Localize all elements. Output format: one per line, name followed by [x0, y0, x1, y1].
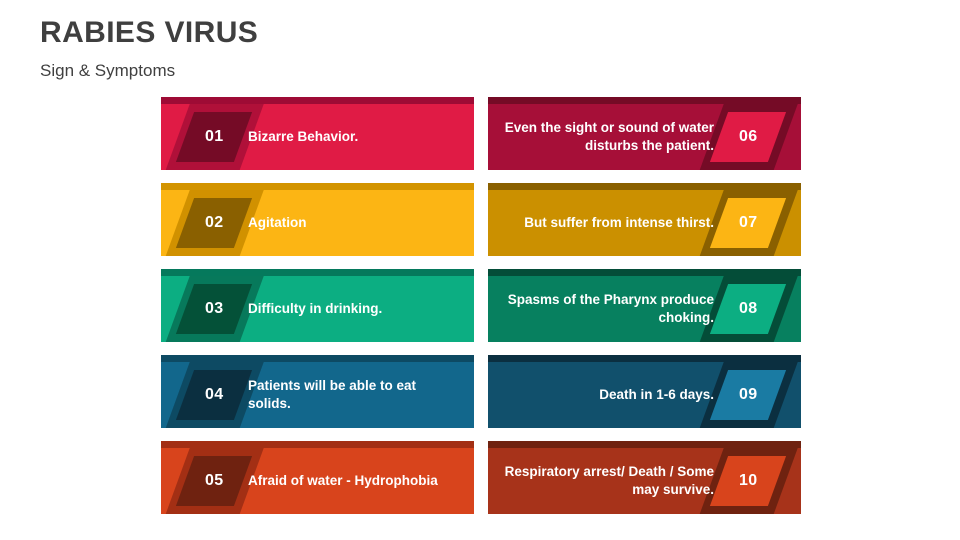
bar-top-strip — [161, 441, 474, 448]
bar-body: 05Afraid of water - Hydrophobia — [161, 448, 474, 514]
bar-body: 09Death in 1-6 days. — [488, 362, 801, 428]
bar-number: 06 — [739, 129, 757, 145]
bar-top-strip — [161, 269, 474, 276]
bar-body: 06Even the sight or sound of water distu… — [488, 104, 801, 170]
bar-number: 08 — [739, 301, 757, 317]
bar-top-strip — [488, 183, 801, 190]
symptom-bar[interactable]: 10Respiratory arrest/ Death / Some may s… — [488, 441, 801, 514]
bar-label-text: Patients will be able to eat solids. — [248, 377, 462, 413]
bar-number: 03 — [205, 301, 223, 317]
symptom-bar[interactable]: 05Afraid of water - Hydrophobia — [161, 441, 474, 514]
bar-number: 05 — [205, 473, 223, 489]
bar-label: Bizarre Behavior. — [248, 104, 462, 170]
bar-top-strip — [161, 355, 474, 362]
bar-label: Agitation — [248, 190, 462, 256]
bar-body: 03Difficulty in drinking. — [161, 276, 474, 342]
bar-label-text: Respiratory arrest/ Death / Some may sur… — [500, 463, 714, 499]
bar-body: 04Patients will be able to eat solids. — [161, 362, 474, 428]
bar-body: 10Respiratory arrest/ Death / Some may s… — [488, 448, 801, 514]
bar-label: Afraid of water - Hydrophobia — [248, 448, 462, 514]
bar-number: 10 — [739, 473, 757, 489]
bar-label-text: Spasms of the Pharynx produce choking. — [500, 291, 714, 327]
bar-top-strip — [161, 97, 474, 104]
bar-number: 07 — [739, 215, 757, 231]
symptom-bar[interactable]: 01Bizarre Behavior. — [161, 97, 474, 170]
bar-body: 01Bizarre Behavior. — [161, 104, 474, 170]
bar-label: Spasms of the Pharynx produce choking. — [500, 276, 714, 342]
left-column: 01Bizarre Behavior.02Agitation03Difficul… — [161, 97, 474, 527]
bar-label-text: Bizarre Behavior. — [248, 128, 358, 146]
bar-label-text: Agitation — [248, 214, 307, 232]
bar-number: 09 — [739, 387, 757, 403]
symptom-bar[interactable]: 07But suffer from intense thirst. — [488, 183, 801, 256]
bar-label-text: Afraid of water - Hydrophobia — [248, 472, 438, 490]
bar-label-text: Death in 1-6 days. — [599, 386, 714, 404]
page-title: RABIES VIRUS — [40, 16, 258, 51]
right-column: 06Even the sight or sound of water distu… — [488, 97, 801, 527]
symptom-bar[interactable]: 02Agitation — [161, 183, 474, 256]
bar-label: Even the sight or sound of water disturb… — [500, 104, 714, 170]
bar-label-text: But suffer from intense thirst. — [524, 214, 714, 232]
page-subtitle: Sign & Symptoms — [40, 61, 258, 81]
bar-number: 02 — [205, 215, 223, 231]
bar-body: 02Agitation — [161, 190, 474, 256]
bar-label-text: Even the sight or sound of water disturb… — [500, 119, 714, 155]
bar-top-strip — [488, 269, 801, 276]
bar-top-strip — [488, 97, 801, 104]
symptom-bar[interactable]: 09Death in 1-6 days. — [488, 355, 801, 428]
bar-label: Respiratory arrest/ Death / Some may sur… — [500, 448, 714, 514]
symptom-bar[interactable]: 04Patients will be able to eat solids. — [161, 355, 474, 428]
bar-number: 01 — [205, 129, 223, 145]
bar-top-strip — [161, 183, 474, 190]
bar-top-strip — [488, 355, 801, 362]
bar-label-text: Difficulty in drinking. — [248, 300, 382, 318]
slide-canvas: RABIES VIRUS Sign & Symptoms 01Bizarre B… — [0, 0, 960, 540]
symptom-bar[interactable]: 06Even the sight or sound of water distu… — [488, 97, 801, 170]
bar-number: 04 — [205, 387, 223, 403]
symptom-bar[interactable]: 08Spasms of the Pharynx produce choking. — [488, 269, 801, 342]
bar-label: Death in 1-6 days. — [500, 362, 714, 428]
bar-body: 08Spasms of the Pharynx produce choking. — [488, 276, 801, 342]
bar-label: Difficulty in drinking. — [248, 276, 462, 342]
symptom-bar[interactable]: 03Difficulty in drinking. — [161, 269, 474, 342]
slide-header: RABIES VIRUS Sign & Symptoms — [40, 16, 258, 81]
bar-label: Patients will be able to eat solids. — [248, 362, 462, 428]
bar-body: 07But suffer from intense thirst. — [488, 190, 801, 256]
bar-label: But suffer from intense thirst. — [500, 190, 714, 256]
bar-top-strip — [488, 441, 801, 448]
